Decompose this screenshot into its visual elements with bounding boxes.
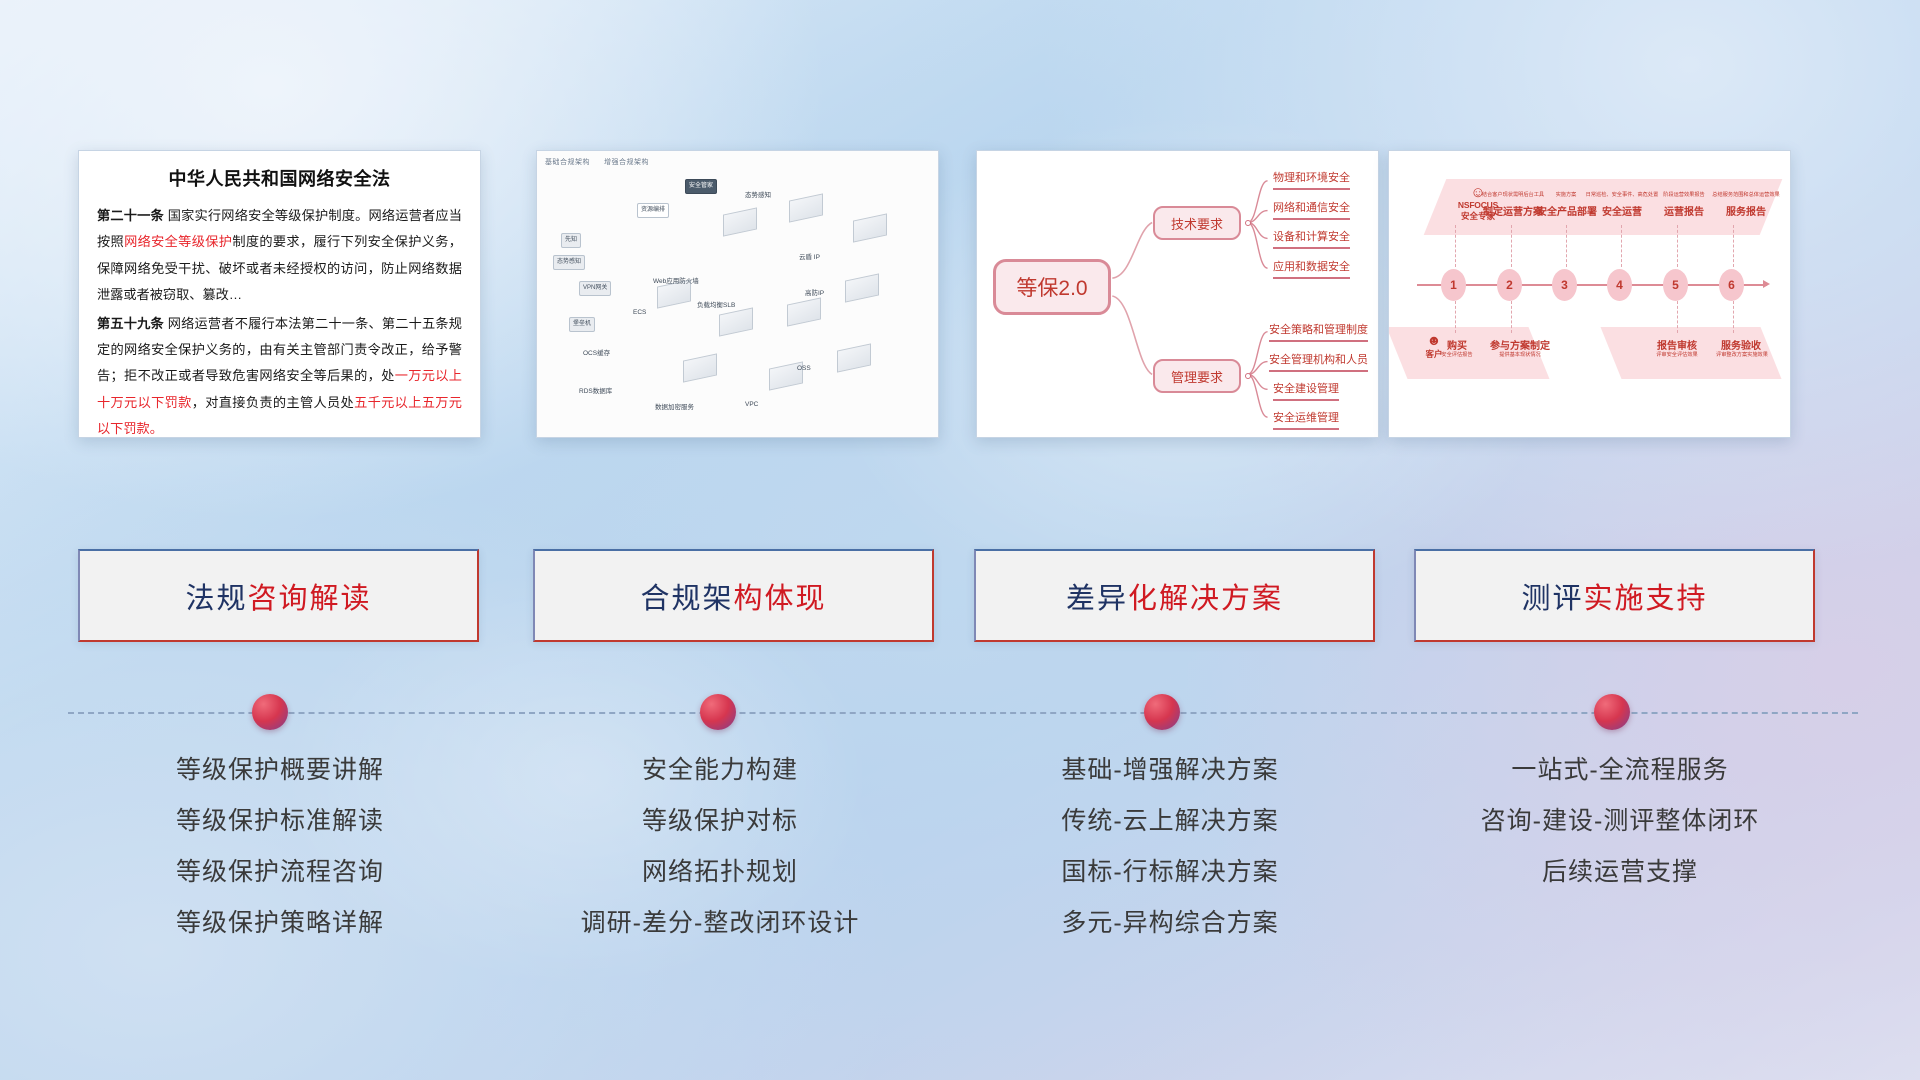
roadmap-step-1[interactable]: 1 [1441,269,1466,301]
list-item: 后续运营支撑 [1390,847,1850,898]
arch-label-负载均衡SLB: 负载均衡SLB [697,299,735,309]
label-1-red: 咨询解读 [248,575,372,617]
roadmap-step-4[interactable]: 4 [1607,269,1632,301]
law-run-2-2: ，对直接负责的主管人员处 [192,395,354,410]
detail-columns: 等级保护概要讲解 等级保护标准解读 等级保护流程咨询 等级保护策略详解 安全能力… [0,745,1920,975]
mindmap-leaf-org-personnel: 安全管理机构和人员 [1269,351,1368,372]
timeline-dashed-line [68,712,1858,714]
arch-label-RDS数据库: RDS数据库 [579,385,612,395]
law-article-label-1: 第二十一条 [97,208,164,223]
list-item: 国标-行标解决方案 [950,847,1390,898]
timeline-node-2[interactable] [700,694,736,730]
detail-column-2: 安全能力构建 等级保护对标 网络拓扑规划 调研-差分-整改闭环设计 [500,745,940,949]
arch-cube-3 [853,213,887,242]
mindmap-branch-technical[interactable]: 技术要求 [1153,206,1241,240]
arch-label-高防IP: 高防IP [805,287,824,297]
card-compliance-architecture[interactable]: 基础合规架构增强合规架构 安全管家 资源编排 先知 态势感知 VPN网关 堡垒机… [536,150,939,438]
roadmap-sub-6: 总结服务范围和总体运营效果 [1707,191,1785,198]
arch-cube-6 [787,297,821,326]
law-body: 中华人民共和国网络安全法 第二十一条 国家实行网络安全等级保护制度。网络运营者应… [79,151,480,438]
timeline [0,694,1920,734]
roadmap-dash-3 [1566,225,1567,267]
arch-cube-7 [845,273,879,302]
service-label-row: 法规咨询解读 合规架构体现 差异化解决方案 测评实施支持 [0,549,1920,644]
list-item: 等级保护概要讲解 [60,745,500,796]
arch-cube-9 [837,343,871,372]
arch-label-OCS缓存: OCS缓存 [583,347,610,357]
arch-label-VPC: VPC [745,401,758,408]
mindmap: 等保2.0 技术要求 管理要求 物理和环境安全 网络和通信安全 设备和计算安全 … [977,151,1378,437]
arch-label-云盾IP: 云盾 IP [799,251,820,261]
detail-column-4: 一站式-全流程服务 咨询-建设-测评整体闭环 后续运营支撑 [1390,745,1850,898]
list-item: 等级保护策略详解 [60,898,500,949]
roadmap-step-3[interactable]: 3 [1552,269,1577,301]
mindmap-leaf-policy-system: 安全策略和管理制度 [1269,321,1368,342]
law-run-1-1: 网络安全等级保护 [124,234,232,249]
arch-node-资源编排: 资源编排 [637,203,669,218]
mindmap-collapse-dot-management[interactable] [1245,373,1251,379]
mindmap-collapse-dot-technical[interactable] [1245,220,1251,226]
list-item: 多元-异构综合方案 [950,898,1390,949]
mindmap-leaf-device-compute: 设备和计算安全 [1273,228,1350,249]
roadmap-dash-6 [1733,225,1734,267]
law-paragraph-1: 第二十一条 国家实行网络安全等级保护制度。网络运营者应当按照网络安全等级保护制度… [97,203,462,309]
detail-column-3: 基础-增强解决方案 传统-云上解决方案 国标-行标解决方案 多元-异构综合方案 [950,745,1390,949]
service-label-法规咨询解读[interactable]: 法规咨询解读 [78,549,479,642]
arch-label-OSS: OSS [797,365,811,372]
detail-column-1: 等级保护概要讲解 等级保护标准解读 等级保护流程咨询 等级保护策略详解 [60,745,500,949]
roadmap-diagram: ☺ NSFOCUS 安全专家 ☻ 客户 1 2 3 4 5 6 [1389,151,1790,437]
arch-label-Web应用防火墙: Web应用防火墙 [653,275,699,285]
service-label-差异化解决方案[interactable]: 差异化解决方案 [974,549,1375,642]
mindmap-leaf-network-comm: 网络和通信安全 [1273,199,1350,220]
mindmap-leaf-ops-mgmt: 安全运维管理 [1273,409,1339,430]
mindmap-leaf-app-data: 应用和数据安全 [1273,258,1350,279]
architecture-diagram: 基础合规架构增强合规架构 安全管家 资源编排 先知 态势感知 VPN网关 堡垒机… [537,151,938,437]
arch-label-态势感知: 态势感知 [745,189,771,199]
roadmap-cust-sub-4: 评审整改方案实施效果 [1703,351,1781,358]
list-item: 调研-差分-整改闭环设计 [500,898,940,949]
arch-node-态势感知: 态势感知 [553,255,585,270]
arch-cube-5 [719,307,753,336]
timeline-node-4[interactable] [1594,694,1630,730]
roadmap-dash-4 [1621,225,1622,267]
arch-node-安全管家: 安全管家 [685,179,717,194]
roadmap-axis-arrow-icon [1763,280,1770,288]
roadmap-step-2[interactable]: 2 [1497,269,1522,301]
roadmap-dash-c1 [1455,301,1456,333]
arch-label-ECS: ECS [633,309,646,316]
list-item: 等级保护流程咨询 [60,847,500,898]
arch-cube-2 [789,193,823,222]
label-4-red: 实施支持 [1584,575,1708,617]
list-item: 咨询-建设-测评整体闭环 [1390,796,1850,847]
mindmap-leaf-physical-env: 物理和环境安全 [1273,169,1350,190]
roadmap-step-5[interactable]: 5 [1663,269,1688,301]
arch-node-VPN网关: VPN网关 [579,281,611,296]
service-label-测评实施支持[interactable]: 测评实施支持 [1414,549,1815,642]
list-item: 基础-增强解决方案 [950,745,1390,796]
list-item: 安全能力构建 [500,745,940,796]
law-paragraph-2: 第五十九条 网络运营者不履行本法第二十一条、第二十五条规定的网络安全保护义务的，… [97,311,462,438]
label-2-navy: 合规架 [640,575,733,617]
arch-label-数据加密服务: 数据加密服务 [655,401,694,411]
service-label-合规架构体现[interactable]: 合规架构体现 [533,549,934,642]
roadmap-dash-5 [1677,225,1678,267]
list-item: 网络拓扑规划 [500,847,940,898]
roadmap-title-4: 安全运营 [1585,203,1659,218]
law-article-label-2: 第五十九条 [97,316,164,331]
roadmap-dash-c3 [1677,301,1678,333]
mindmap-branch-management[interactable]: 管理要求 [1153,359,1241,393]
arch-node-堡垒机: 堡垒机 [569,317,595,332]
roadmap-dash-c2 [1511,301,1512,333]
list-item: 一站式-全流程服务 [1390,745,1850,796]
arch-tag-0: 基础合规架构 [545,159,590,166]
roadmap-step-6[interactable]: 6 [1719,269,1744,301]
architecture-header-tags: 基础合规架构增强合规架构 [545,157,663,167]
arch-tag-1: 增强合规架构 [604,159,649,166]
card-nsfocus-roadmap[interactable]: ☺ NSFOCUS 安全专家 ☻ 客户 1 2 3 4 5 6 [1388,150,1791,438]
arch-node-先知: 先知 [561,233,581,248]
list-item: 等级保护对标 [500,796,940,847]
arch-cube-1 [723,207,757,236]
roadmap-cust-sub-2: 提供基本现状情况 [1481,351,1559,358]
law-title: 中华人民共和国网络安全法 [97,165,462,191]
timeline-node-1[interactable] [252,694,288,730]
roadmap-cust-sub-1: 安全评估报告 [1431,351,1483,358]
roadmap-cust-title-1: 购买 [1433,337,1481,352]
roadmap-cust-title-4: 服务验收 [1709,337,1773,352]
mindmap-leaf-construction-mgmt: 安全建设管理 [1273,380,1339,401]
card-cybersecurity-law[interactable]: 中华人民共和国网络安全法 第二十一条 国家实行网络安全等级保护制度。网络运营者应… [78,150,481,438]
label-1-navy: 法规 [185,575,247,617]
roadmap-cust-title-2: 参与方案制定 [1481,337,1559,352]
label-3-navy: 差异 [1066,575,1128,617]
roadmap-dash-1 [1455,225,1456,267]
label-3-red: 化解决方案 [1128,575,1283,617]
mindmap-root-node[interactable]: 等保2.0 [993,259,1111,315]
label-4-navy: 测评 [1521,575,1583,617]
roadmap-dash-c4 [1733,301,1734,333]
card-dengbao-mindmap[interactable]: 等保2.0 技术要求 管理要求 物理和环境安全 网络和通信安全 设备和计算安全 … [976,150,1379,438]
roadmap-cust-title-3: 报告审核 [1645,337,1709,352]
list-item: 等级保护标准解读 [60,796,500,847]
roadmap-sub-4: 日常巡检、安全事件、高危处置 [1585,191,1659,198]
roadmap-title-6: 服务报告 [1707,203,1785,218]
roadmap-dash-2 [1511,225,1512,267]
label-2-red: 构体现 [734,575,827,617]
arch-cube-10 [683,353,717,382]
roadmap-axis-line [1417,284,1767,286]
reference-cards-row: 中华人民共和国网络安全法 第二十一条 国家实行网络安全等级保护制度。网络运营者应… [0,150,1920,440]
timeline-node-3[interactable] [1144,694,1180,730]
list-item: 传统-云上解决方案 [950,796,1390,847]
